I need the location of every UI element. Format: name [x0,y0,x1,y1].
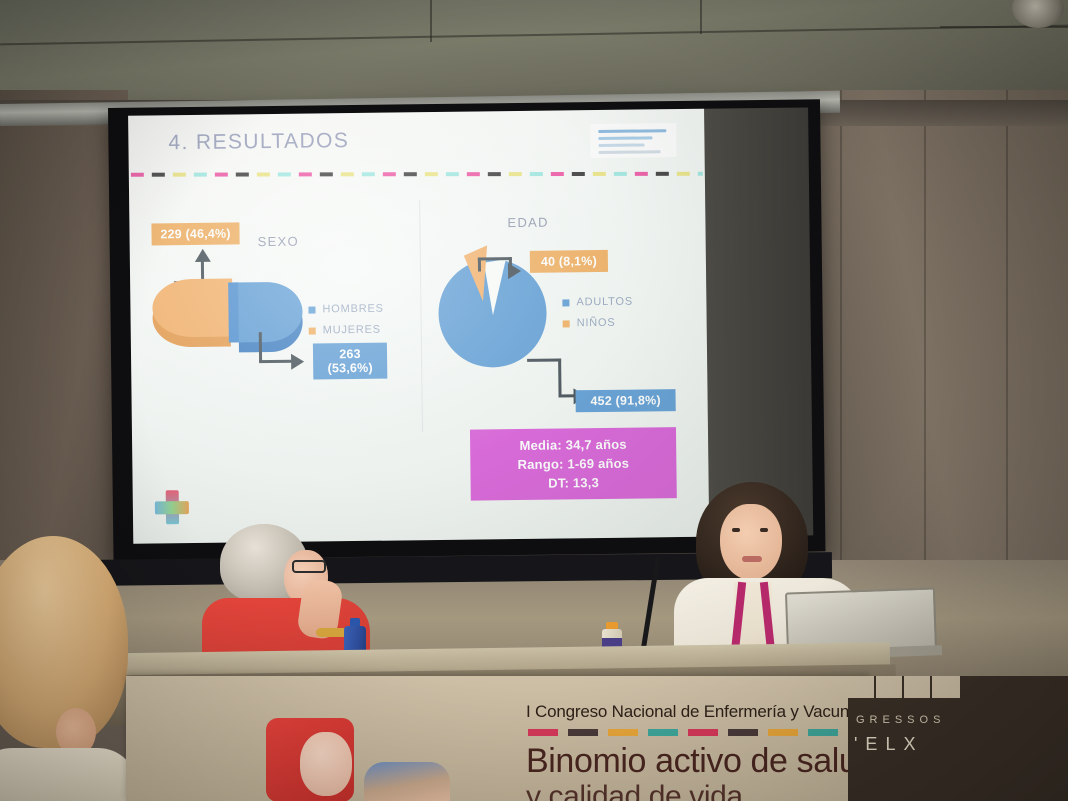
foreground-audience-head [0,536,134,801]
sexo-hombres-arrow-icon [259,331,316,376]
venue-sign: GRESSOS 'ELX [848,676,1068,801]
edad-adultos-callout: 452 (91,8%) [575,389,675,412]
shoulder [0,748,138,801]
edad-legend: ADULTOS NIÑOS [562,296,633,339]
colored-cross-logo [155,490,189,524]
sexo-chart-heading: SEXO [258,234,300,250]
sexo-mujeres-callout: 229 (46,4%) [151,222,239,245]
vertical-divider [419,200,423,432]
banner-title-line1: Binomio activo de salud [526,742,876,781]
legend-label-hombres: HOMBRES [322,303,383,316]
legend-label-ninos: NIÑOS [577,317,616,329]
decorative-dashed-rule [131,169,703,179]
presentation-slide: 4. RESULTADOS SEXO 229 (46,4%) [128,109,709,544]
legend-item: ADULTOS [562,296,633,309]
banner-subtitle: I Congreso Nacional de Enfermería y Vacu… [526,702,867,722]
congress-logo [590,123,676,158]
sexo-hombres-value: 263 [339,347,361,361]
banner-title-line2: y calidad de vida [526,780,743,801]
age-stats-box: Media: 34,7 años Rango: 1-69 años DT: 13… [470,427,677,501]
sexo-legend: HOMBRES MUJERES [308,303,384,346]
stats-rango: Rango: 1-69 años [480,453,666,474]
edad-ninos-arrow-icon [478,257,534,282]
legend-item: MUJERES [309,324,384,337]
event-banner: I Congreso Nacional de Enfermería y Vacu… [126,676,870,801]
sign-slats [848,676,960,698]
slide-title: 4. RESULTADOS [168,129,349,155]
edad-chart-heading: EDAD [507,215,549,231]
legend-swatch-adultos [562,299,569,306]
edad-pie-chart [128,109,704,116]
stats-media: Media: 34,7 años [480,434,666,455]
legend-label-adultos: ADULTOS [576,296,633,309]
venue-sign-line2: 'ELX [854,734,923,755]
conference-room-photo: 4. RESULTADOS SEXO 229 (46,4%) [0,0,1068,801]
legend-label-mujeres: MUJERES [323,324,381,337]
slide-surface: 4. RESULTADOS SEXO 229 (46,4%) [128,109,709,544]
banner-baby-photo [364,762,450,801]
legend-item: NIÑOS [563,317,634,330]
edad-ninos-callout: 40 (8,1%) [530,250,608,273]
legend-swatch-ninos [563,320,570,327]
eyeglasses-icon [292,560,326,573]
banner-red-cube [266,718,354,801]
legend-swatch-hombres [308,306,315,313]
banner-decorative-rule [528,729,858,736]
legend-item: HOMBRES [308,303,383,316]
venue-sign-line1: GRESSOS [856,714,945,726]
sexo-hombres-callout: 263 (53,6%) [313,343,387,380]
sexo-hombres-pct: (53,6%) [328,361,373,376]
screen-shadow-area [704,107,813,536]
stats-dt: DT: 13,3 [481,472,667,493]
